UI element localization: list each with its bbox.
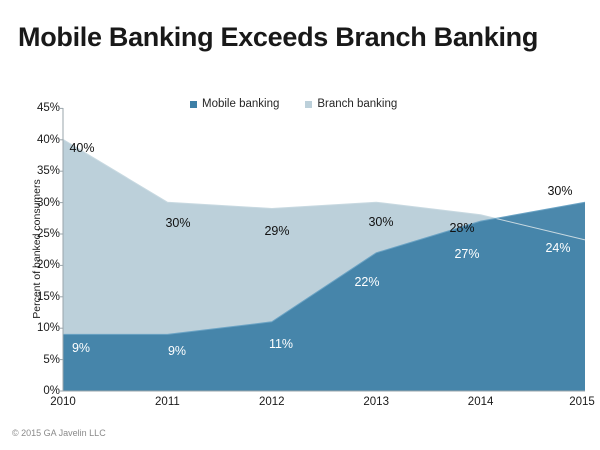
x-tick-2011: 2011 <box>155 396 180 408</box>
x-tick-2015: 2015 <box>569 396 595 408</box>
x-tick-2012: 2012 <box>259 396 285 408</box>
chart-container: Mobile Banking Exceeds Branch Banking Mo… <box>0 0 600 450</box>
x-tick-2013: 2013 <box>363 396 389 408</box>
plot-area <box>0 0 600 450</box>
copyright-note: © 2015 GA Javelin LLC <box>12 428 106 438</box>
y-axis-tick-marks <box>58 108 63 391</box>
x-tick-2010: 2010 <box>50 396 76 408</box>
x-tick-2014: 2014 <box>468 396 494 408</box>
